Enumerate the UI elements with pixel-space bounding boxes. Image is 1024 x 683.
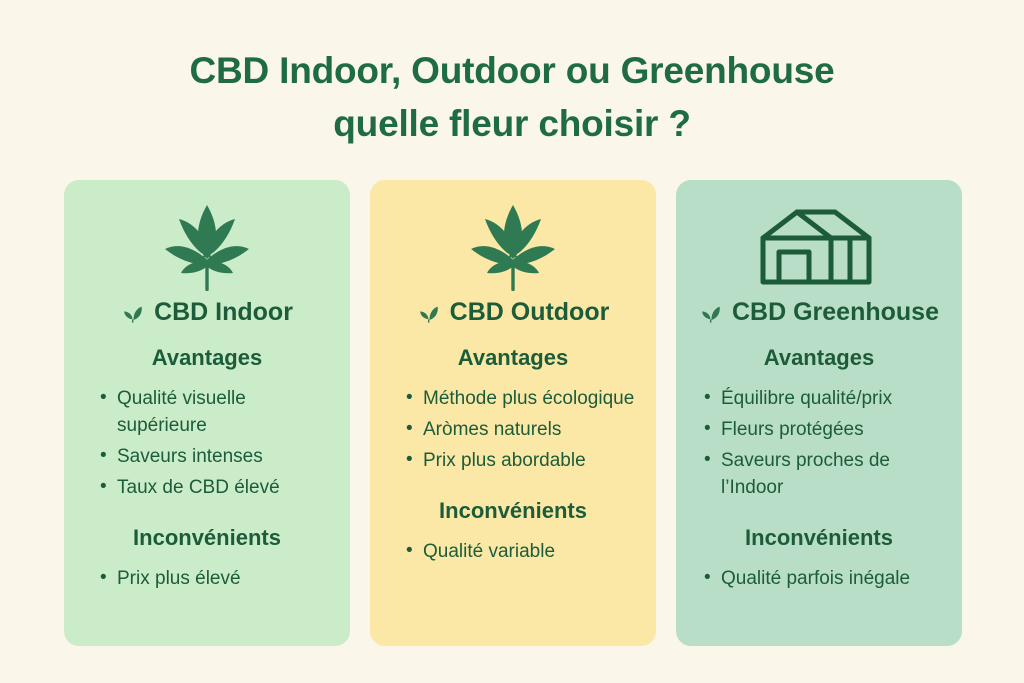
cons-list-indoor: Prix plus élevé	[82, 565, 332, 596]
pros-heading-outdoor: Avantages	[388, 347, 638, 369]
page-title: CBD Indoor, Outdoor ou Greenhouse quelle…	[0, 44, 1024, 150]
cons-heading-indoor: Inconvénients	[82, 527, 332, 549]
card-outdoor: CBD Outdoor Avantages Méthode plus écolo…	[370, 180, 656, 646]
list-item: Méthode plus écologique	[406, 385, 638, 412]
pros-heading-greenhouse: Avantages	[694, 347, 944, 369]
pros-list-greenhouse: Équilibre qualité/prix Fleurs protégées …	[694, 385, 944, 505]
cons-list-greenhouse: Qualité parfois inégale	[694, 565, 944, 596]
list-item: Fleurs protégées	[704, 416, 944, 443]
list-item: Aròmes naturels	[406, 416, 638, 443]
list-item: Qualité visuelle supérieure	[100, 385, 332, 439]
cannabis-leaf-icon	[465, 202, 561, 294]
list-item: Équilibre qualité/prix	[704, 385, 944, 412]
list-item: Saveurs proches de l’Indoor	[704, 447, 944, 501]
list-item: Prix plus élevé	[100, 565, 332, 592]
pros-list-indoor: Qualité visuelle supérieure Saveurs inte…	[82, 385, 332, 505]
greenhouse-icon	[757, 202, 881, 294]
card-title-row-indoor: CBD Indoor	[82, 300, 332, 325]
card-indoor: CBD Indoor Avantages Qualité visuelle su…	[64, 180, 350, 646]
list-item: Prix plus abordable	[406, 447, 638, 474]
page-title-line-1: CBD Indoor, Outdoor ou Greenhouse	[0, 44, 1024, 97]
sprout-icon	[699, 301, 723, 325]
comparison-cards: CBD Indoor Avantages Qualité visuelle su…	[64, 180, 962, 646]
cons-list-outdoor: Qualité variable	[388, 538, 638, 569]
cannabis-leaf-icon	[159, 202, 255, 294]
card-title-row-outdoor: CBD Outdoor	[388, 300, 638, 325]
infographic-root: CBD Indoor, Outdoor ou Greenhouse quelle…	[0, 0, 1024, 683]
cons-heading-outdoor: Inconvénients	[388, 500, 638, 522]
card-title-greenhouse: CBD Greenhouse	[732, 300, 939, 325]
page-title-line-2: quelle fleur choisir ?	[0, 97, 1024, 150]
card-title-outdoor: CBD Outdoor	[450, 300, 610, 325]
list-item: Saveurs intenses	[100, 443, 332, 470]
card-title-row-greenhouse: CBD Greenhouse	[694, 300, 944, 325]
card-title-indoor: CBD Indoor	[154, 300, 293, 325]
list-item: Qualité variable	[406, 538, 638, 565]
list-item: Qualité parfois inégale	[704, 565, 944, 592]
sprout-icon	[417, 301, 441, 325]
cons-heading-greenhouse: Inconvénients	[694, 527, 944, 549]
sprout-icon	[121, 301, 145, 325]
card-greenhouse: CBD Greenhouse Avantages Équilibre quali…	[676, 180, 962, 646]
pros-heading-indoor: Avantages	[82, 347, 332, 369]
pros-list-outdoor: Méthode plus écologique Aròmes naturels …	[388, 385, 638, 478]
list-item: Taux de CBD élevé	[100, 474, 332, 501]
